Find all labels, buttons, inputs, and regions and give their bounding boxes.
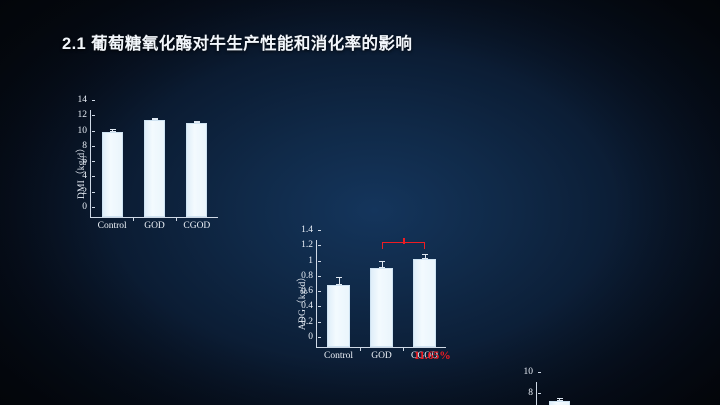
error-bar	[425, 254, 426, 259]
chart-adg-plot: 00.20.40.60.811.21.4ControlGODCGOD	[316, 240, 446, 348]
y-axis-tick: 0.4	[301, 301, 317, 311]
y-axis-tick: 4	[82, 171, 91, 181]
bracket-tick	[403, 238, 405, 244]
x-axis-label: Control	[324, 347, 353, 361]
y-axis-tick: 1.2	[301, 240, 317, 250]
x-axis-label: Control	[98, 217, 127, 231]
y-axis-tick: 12	[78, 110, 92, 120]
error-bar	[559, 398, 560, 401]
bar-god	[370, 268, 393, 347]
error-bar	[197, 121, 198, 124]
adg-comparison-bracket	[382, 242, 425, 249]
y-axis-tick: 0.8	[301, 271, 317, 281]
chart-dmi: DMI（kg/d） 02468101214ControlGODCGOD	[52, 106, 222, 236]
y-axis-tick: 0	[82, 202, 91, 212]
x-axis-label: GOD	[144, 217, 165, 231]
bar-cgod	[186, 123, 207, 217]
y-axis-tick: 1.4	[301, 225, 317, 235]
y-axis-tick: 1	[308, 256, 317, 266]
x-axis-tickmark	[176, 217, 177, 221]
y-axis-tick: 0	[308, 332, 317, 342]
y-axis-tick: 8	[528, 388, 537, 398]
bar-control	[327, 285, 350, 347]
chart-fcr-plot: 0246810ControlGODCGOD	[536, 382, 669, 405]
bar-cgod	[413, 259, 436, 347]
error-bar	[155, 118, 156, 120]
y-axis-tick: 14	[78, 95, 92, 105]
chart-dmi-plot: 02468101214ControlGODCGOD	[90, 110, 218, 218]
error-bar	[112, 129, 113, 132]
slide-canvas: 2.1 葡萄糖氧化酶对牛生产性能和消化率的影响 DMI（kg/d） 024681…	[0, 0, 720, 405]
y-axis-tick: 0.2	[301, 317, 317, 327]
x-axis-tickmark	[133, 217, 134, 221]
adg-improvement-label: 11.65%	[414, 350, 720, 362]
y-axis-tick: 2	[82, 187, 91, 197]
bar-control	[549, 401, 570, 405]
error-bar	[382, 261, 383, 269]
x-axis-label: GOD	[371, 347, 392, 361]
x-axis-tickmark	[360, 347, 361, 351]
y-axis-tick: 0.6	[301, 286, 317, 296]
bar-control	[102, 132, 123, 217]
bar-god	[144, 120, 165, 217]
y-axis-tick: 10	[524, 367, 538, 377]
x-axis-label: CGOD	[183, 217, 210, 231]
chart-adg: ADG（kg/d） 00.20.40.60.811.21.4ControlGOD…	[272, 236, 450, 366]
page-title: 2.1 葡萄糖氧化酶对牛生产性能和消化率的影响	[62, 30, 720, 54]
y-axis-tick: 8	[82, 141, 91, 151]
y-axis-tick: 10	[78, 126, 92, 136]
x-axis-tickmark	[403, 347, 404, 351]
chart-fcr: FCR（kg/kg） 0246810ControlGODCGOD	[498, 378, 673, 405]
y-axis-tick: 6	[82, 156, 91, 166]
error-bar	[339, 277, 340, 285]
